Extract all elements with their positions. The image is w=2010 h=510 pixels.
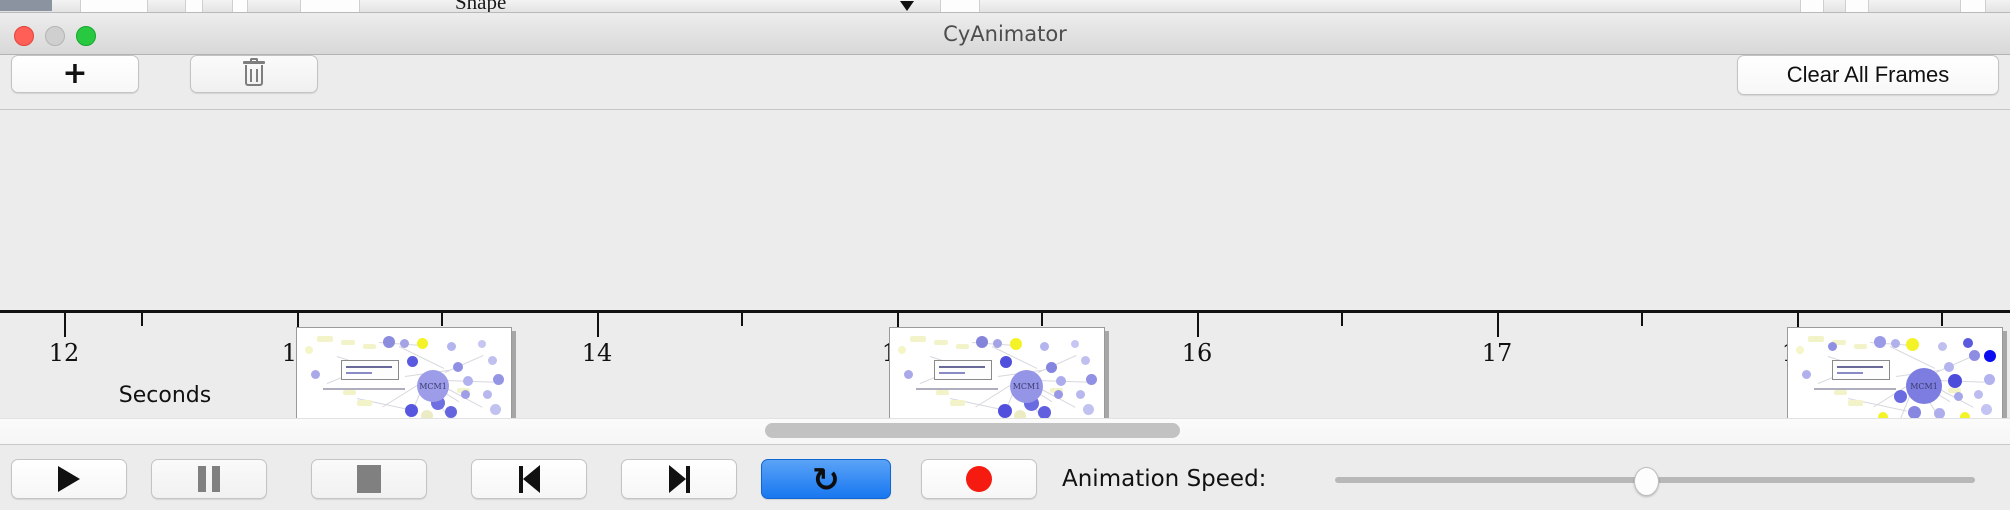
background-window-strip: Shape	[0, 0, 2010, 13]
axis-tick-minor	[1341, 313, 1343, 326]
clear-all-frames-button[interactable]: Clear All Frames	[1737, 55, 1999, 95]
axis-tick-major	[64, 313, 66, 337]
network-thumbnail: MCM1	[297, 328, 511, 418]
next-frame-button[interactable]	[621, 459, 737, 499]
network-callout	[934, 360, 992, 380]
axis-title-text: Seconds	[119, 383, 211, 408]
background-window-label: Shape	[455, 0, 506, 13]
loop-toggle-button[interactable]: ↻	[761, 459, 891, 499]
add-frame-button[interactable]: +	[11, 55, 139, 93]
record-button[interactable]	[921, 459, 1037, 499]
clear-all-frames-label: Clear All Frames	[1787, 62, 1950, 88]
axis-tick-major	[1197, 313, 1199, 337]
previous-frame-button[interactable]	[471, 459, 587, 499]
network-thumbnail: MCM1	[890, 328, 1104, 418]
skip-previous-icon	[519, 465, 540, 493]
timeline-panel[interactable]: 12 13 14 15 16 17 18 Seconds	[0, 111, 2010, 418]
animation-speed-slider-thumb[interactable]	[1634, 467, 1659, 496]
trash-icon	[243, 61, 265, 87]
axis-tick-label: 17	[1482, 339, 1513, 367]
axis-tick-minor	[741, 313, 743, 326]
window-title: CyAnimator	[0, 13, 2010, 55]
timeline-scrollbar-thumb[interactable]	[765, 423, 1180, 438]
background-window-chip	[940, 0, 980, 13]
animation-speed-label: Animation Speed:	[1062, 459, 1266, 499]
axis-tick-label: 16	[1182, 339, 1213, 367]
stop-button[interactable]	[311, 459, 427, 499]
axis-tick-minor	[1641, 313, 1643, 326]
background-window-chip	[80, 0, 148, 13]
record-icon	[966, 466, 992, 492]
network-callout	[1832, 360, 1890, 380]
network-callout	[341, 360, 399, 380]
background-window-chip	[185, 0, 203, 13]
background-window-chip	[0, 0, 52, 11]
axis-tick-minor	[1941, 313, 1943, 326]
network-thumbnail: MCM1	[1788, 328, 2002, 418]
pause-button[interactable]	[151, 459, 267, 499]
network-hub-node: MCM1	[1010, 370, 1043, 403]
background-window-chip	[300, 0, 360, 13]
cyanimator-window: Shape CyAnimator + Clear All Frames	[0, 0, 2010, 510]
play-button[interactable]	[11, 459, 127, 499]
delete-frame-button[interactable]	[190, 55, 318, 93]
background-caret-icon	[900, 1, 914, 11]
axis-tick-major	[597, 313, 599, 337]
timeline-axis	[0, 310, 2010, 313]
plus-icon: +	[62, 59, 87, 89]
background-window-chip	[232, 0, 248, 13]
axis-tick-minor	[1041, 313, 1043, 326]
background-window-chip	[1800, 0, 1824, 13]
skip-next-icon	[669, 465, 690, 493]
axis-tick-minor	[441, 313, 443, 326]
background-window-chip	[1845, 0, 1869, 13]
pause-icon	[198, 466, 220, 492]
network-hub-node: MCM1	[1906, 368, 1942, 404]
axis-tick-label: 14	[582, 339, 613, 367]
background-window-chip	[1960, 0, 1986, 13]
title-bar: CyAnimator	[0, 13, 2010, 55]
loop-icon: ↻	[812, 463, 840, 496]
timeline-frame[interactable]: MCM1	[1787, 327, 2003, 418]
axis-tick-major	[1497, 313, 1499, 337]
axis-tick-minor	[141, 313, 143, 326]
timeline-frame[interactable]: MCM1	[296, 327, 512, 418]
stop-icon	[357, 465, 381, 493]
timeline-frame[interactable]: MCM1	[889, 327, 1105, 418]
play-icon	[58, 466, 80, 492]
axis-tick-label: 12	[49, 339, 80, 367]
network-hub-node: MCM1	[417, 370, 449, 402]
